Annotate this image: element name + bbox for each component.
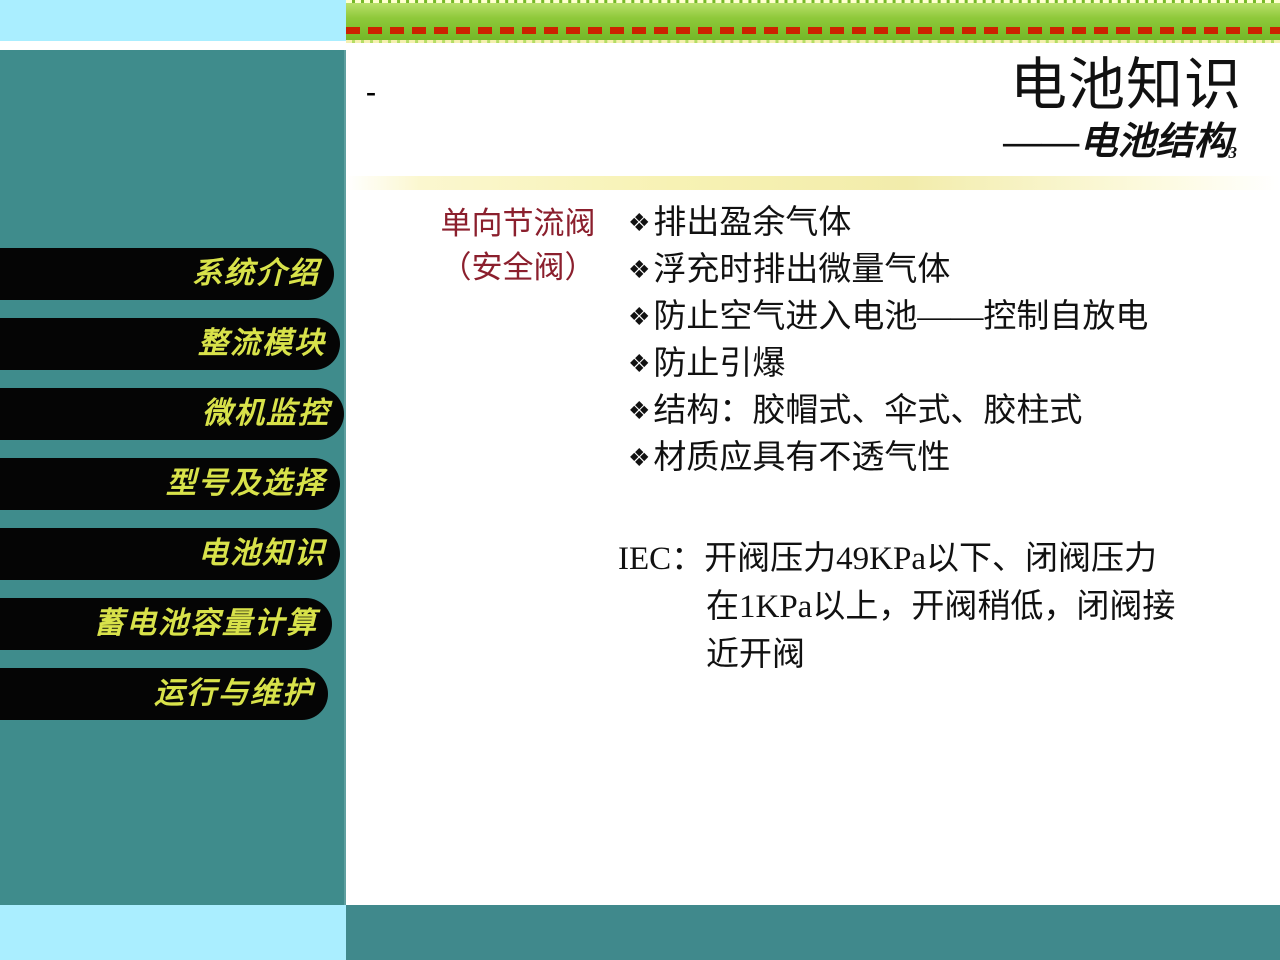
list-item-text: 防止空气进入电池——控制自放电	[653, 294, 1148, 341]
top-green-banner	[346, 0, 1280, 43]
diamond-bullet-icon: ❖	[628, 341, 650, 388]
page-title: 电池知识	[1010, 57, 1242, 114]
list-item: ❖ 结构：胶帽式、伞式、胶柱式	[628, 388, 1248, 435]
sidebar-item-label: 运行与维护	[154, 679, 314, 709]
sidebar-item-battery-capacity-calc[interactable]: 蓄电池容量计算	[0, 598, 332, 650]
top-left-cyan-band	[0, 0, 346, 41]
sidebar-item-label: 整流模块	[198, 329, 326, 359]
sidebar-item-label: 电池知识	[198, 539, 326, 569]
list-item: ❖ 材质应具有不透气性	[628, 435, 1248, 482]
diamond-bullet-icon: ❖	[628, 247, 650, 294]
list-item: ❖ 防止引爆	[628, 341, 1248, 388]
page-subtitle-number: 3	[1229, 143, 1238, 162]
list-item-text: 材质应具有不透气性	[653, 435, 950, 482]
sidebar-item-label: 型号及选择	[166, 469, 326, 499]
list-item: ❖ 防止空气进入电池——控制自放电	[628, 294, 1248, 341]
iec-line-2: 在1KPa以上，开阀稍低，闭阀接	[618, 583, 1258, 631]
header-yellow-rule	[346, 176, 1280, 190]
list-item: ❖ 浮充时排出微量气体	[628, 247, 1248, 294]
sidebar-item-operation-maintenance[interactable]: 运行与维护	[0, 668, 328, 720]
list-item-text: 浮充时排出微量气体	[653, 247, 950, 294]
header-dash-mark: -	[366, 77, 376, 107]
bullet-list: ❖ 排出盈余气体 ❖ 浮充时排出微量气体 ❖ 防止空气进入电池——控制自放电 ❖…	[628, 200, 1248, 482]
diamond-bullet-icon: ❖	[628, 294, 650, 341]
list-item-text: 防止引爆	[653, 341, 785, 388]
list-item-text: 结构：胶帽式、伞式、胶柱式	[653, 388, 1082, 435]
list-item-text: 排出盈余气体	[653, 200, 851, 247]
banner-red-dashed-line	[346, 27, 1280, 34]
diamond-bullet-icon: ❖	[628, 435, 650, 482]
iec-paragraph: IEC：开阀压力49KPa以下、闭阀压力 在1KPa以上，开阀稍低，闭阀接 近开…	[618, 535, 1258, 679]
sidebar-nav: 系统介绍 整流模块 微机监控 型号及选择 电池知识 蓄电池容量计算 运行与维护	[0, 248, 344, 738]
sidebar-item-system-intro[interactable]: 系统介绍	[0, 248, 334, 300]
page-subtitle-text: ——电池结构	[1003, 121, 1231, 163]
sidebar-item-model-selection[interactable]: 型号及选择	[0, 458, 340, 510]
red-heading-line-1: 单向节流阀	[418, 202, 618, 246]
iec-line-1: IEC：开阀压力49KPa以下、闭阀压力	[618, 535, 1258, 583]
iec-line-3: 近开阀	[618, 631, 1258, 679]
slide-content: 单向节流阀 （安全阀） ❖ 排出盈余气体 ❖ 浮充时排出微量气体 ❖ 防止空气进…	[346, 190, 1280, 905]
sidebar-item-battery-knowledge[interactable]: 电池知识	[0, 528, 340, 580]
diamond-bullet-icon: ❖	[628, 200, 650, 247]
sidebar-item-microcomputer-monitoring[interactable]: 微机监控	[0, 388, 344, 440]
page-subtitle: ——电池结构3	[1003, 123, 1240, 161]
bottom-right-teal-band	[346, 905, 1280, 960]
diamond-bullet-icon: ❖	[628, 388, 650, 435]
slide-header: - 电池知识 ——电池结构3	[346, 43, 1280, 175]
sidebar-item-rectifier-module[interactable]: 整流模块	[0, 318, 340, 370]
content-red-heading: 单向节流阀 （安全阀）	[418, 202, 618, 290]
sidebar-item-label: 蓄电池容量计算	[94, 609, 318, 639]
red-heading-line-2: （安全阀）	[418, 246, 618, 290]
list-item: ❖ 排出盈余气体	[628, 200, 1248, 247]
bottom-left-cyan-band	[0, 905, 346, 960]
slide-root: - 电池知识 ——电池结构3 系统介绍 整流模块 微机监控 型号及选择 电池知识…	[0, 0, 1280, 960]
sidebar-item-label: 微机监控	[202, 399, 330, 429]
sidebar-item-label: 系统介绍	[192, 259, 320, 289]
